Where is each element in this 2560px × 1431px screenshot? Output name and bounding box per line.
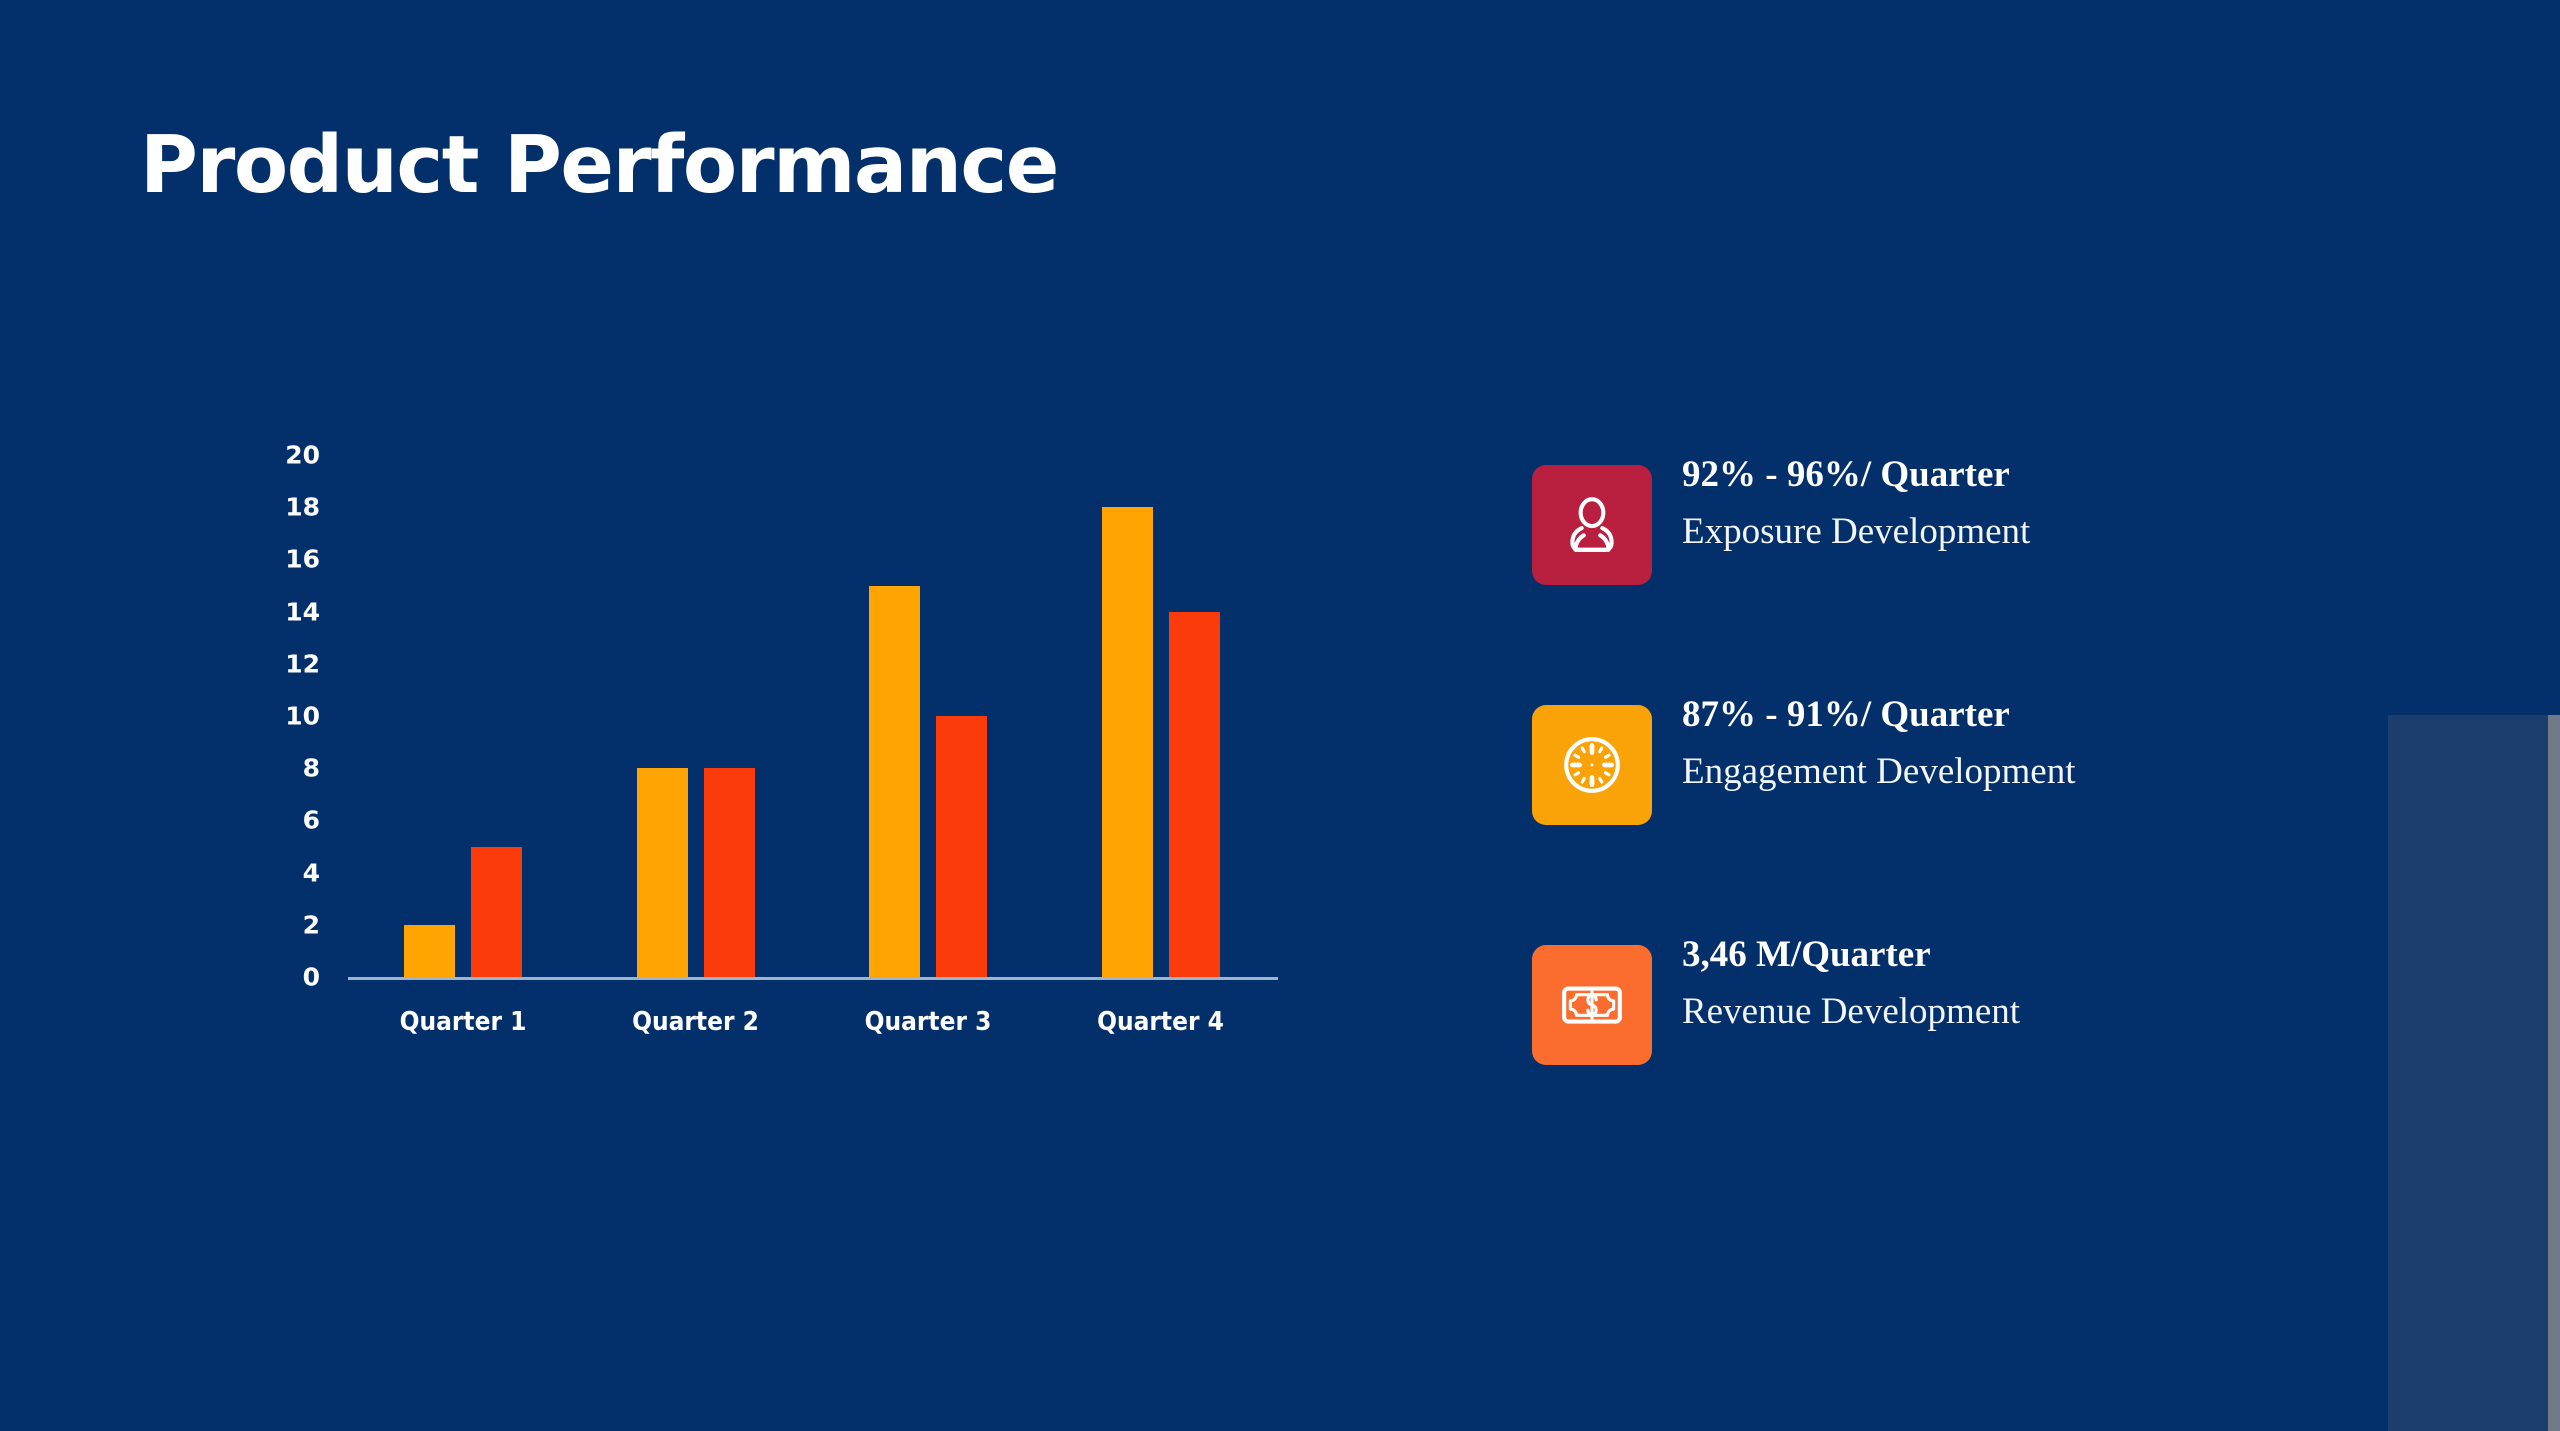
- bar: [471, 847, 522, 978]
- x-axis-line: [348, 977, 1278, 980]
- stat-label: Revenue Development: [1682, 992, 2382, 1033]
- y-axis-tick-label: 0: [230, 963, 320, 992]
- bar-group: [869, 455, 987, 977]
- x-axis-tick-label: Quarter 2: [586, 1007, 806, 1037]
- y-axis-tick-label: 4: [230, 858, 320, 887]
- y-axis-tick-label: 2: [230, 910, 320, 939]
- y-axis-tick-label: 16: [230, 545, 320, 574]
- bar-group: [404, 455, 522, 977]
- y-axis-tick-label: 10: [230, 702, 320, 731]
- bar: [1169, 612, 1220, 977]
- x-axis-tick-label: Quarter 3: [818, 1007, 1038, 1037]
- y-axis-tick-label: 6: [230, 806, 320, 835]
- stat-text-block: 92% - 96%/ QuarterExposure Development: [1682, 455, 2382, 552]
- plot-area: [348, 455, 1278, 977]
- stat-label: Engagement Development: [1682, 752, 2382, 793]
- banknote-dollar-icon: [1532, 945, 1652, 1065]
- stat-value: 3,46 M/Quarter: [1682, 935, 2382, 976]
- stat-card[interactable]: 87% - 91%/ QuarterEngagement Development: [1532, 695, 2392, 845]
- stat-text-block: 3,46 M/QuarterRevenue Development: [1682, 935, 2382, 1032]
- bar-chart: 20181614121086420 Quarter 1Quarter 2Quar…: [230, 455, 1300, 1055]
- stat-text-block: 87% - 91%/ QuarterEngagement Development: [1682, 695, 2382, 792]
- y-axis-tick-label: 14: [230, 597, 320, 626]
- x-axis: Quarter 1Quarter 2Quarter 3Quarter 4: [348, 1007, 1278, 1047]
- bar-group: [637, 455, 755, 977]
- y-axis-tick-label: 18: [230, 493, 320, 522]
- bar: [704, 768, 755, 977]
- decorative-right-panel: [2388, 715, 2548, 1431]
- x-axis-tick-label: Quarter 1: [353, 1007, 573, 1037]
- page-title: Product Performance: [140, 126, 1058, 205]
- bar: [1102, 507, 1153, 977]
- bar-group: [1102, 455, 1220, 977]
- y-axis-tick-label: 20: [230, 441, 320, 470]
- stat-label: Exposure Development: [1682, 512, 2382, 553]
- stats-list: 92% - 96%/ QuarterExposure Development87…: [1532, 455, 2392, 1175]
- decorative-right-edge-strip: [2548, 715, 2560, 1431]
- x-axis-tick-label: Quarter 4: [1051, 1007, 1271, 1037]
- bar: [869, 586, 920, 978]
- bar: [936, 716, 987, 977]
- stat-card[interactable]: 92% - 96%/ QuarterExposure Development: [1532, 455, 2392, 605]
- stat-value: 87% - 91%/ Quarter: [1682, 695, 2382, 736]
- y-axis-tick-label: 12: [230, 649, 320, 678]
- y-axis-tick-label: 8: [230, 754, 320, 783]
- y-axis: 20181614121086420: [230, 455, 320, 977]
- stat-card[interactable]: 3,46 M/QuarterRevenue Development: [1532, 935, 2392, 1085]
- bar: [637, 768, 688, 977]
- bar: [404, 925, 455, 977]
- clock-dial-icon: [1532, 705, 1652, 825]
- stat-value: 92% - 96%/ Quarter: [1682, 455, 2382, 496]
- person-icon: [1532, 465, 1652, 585]
